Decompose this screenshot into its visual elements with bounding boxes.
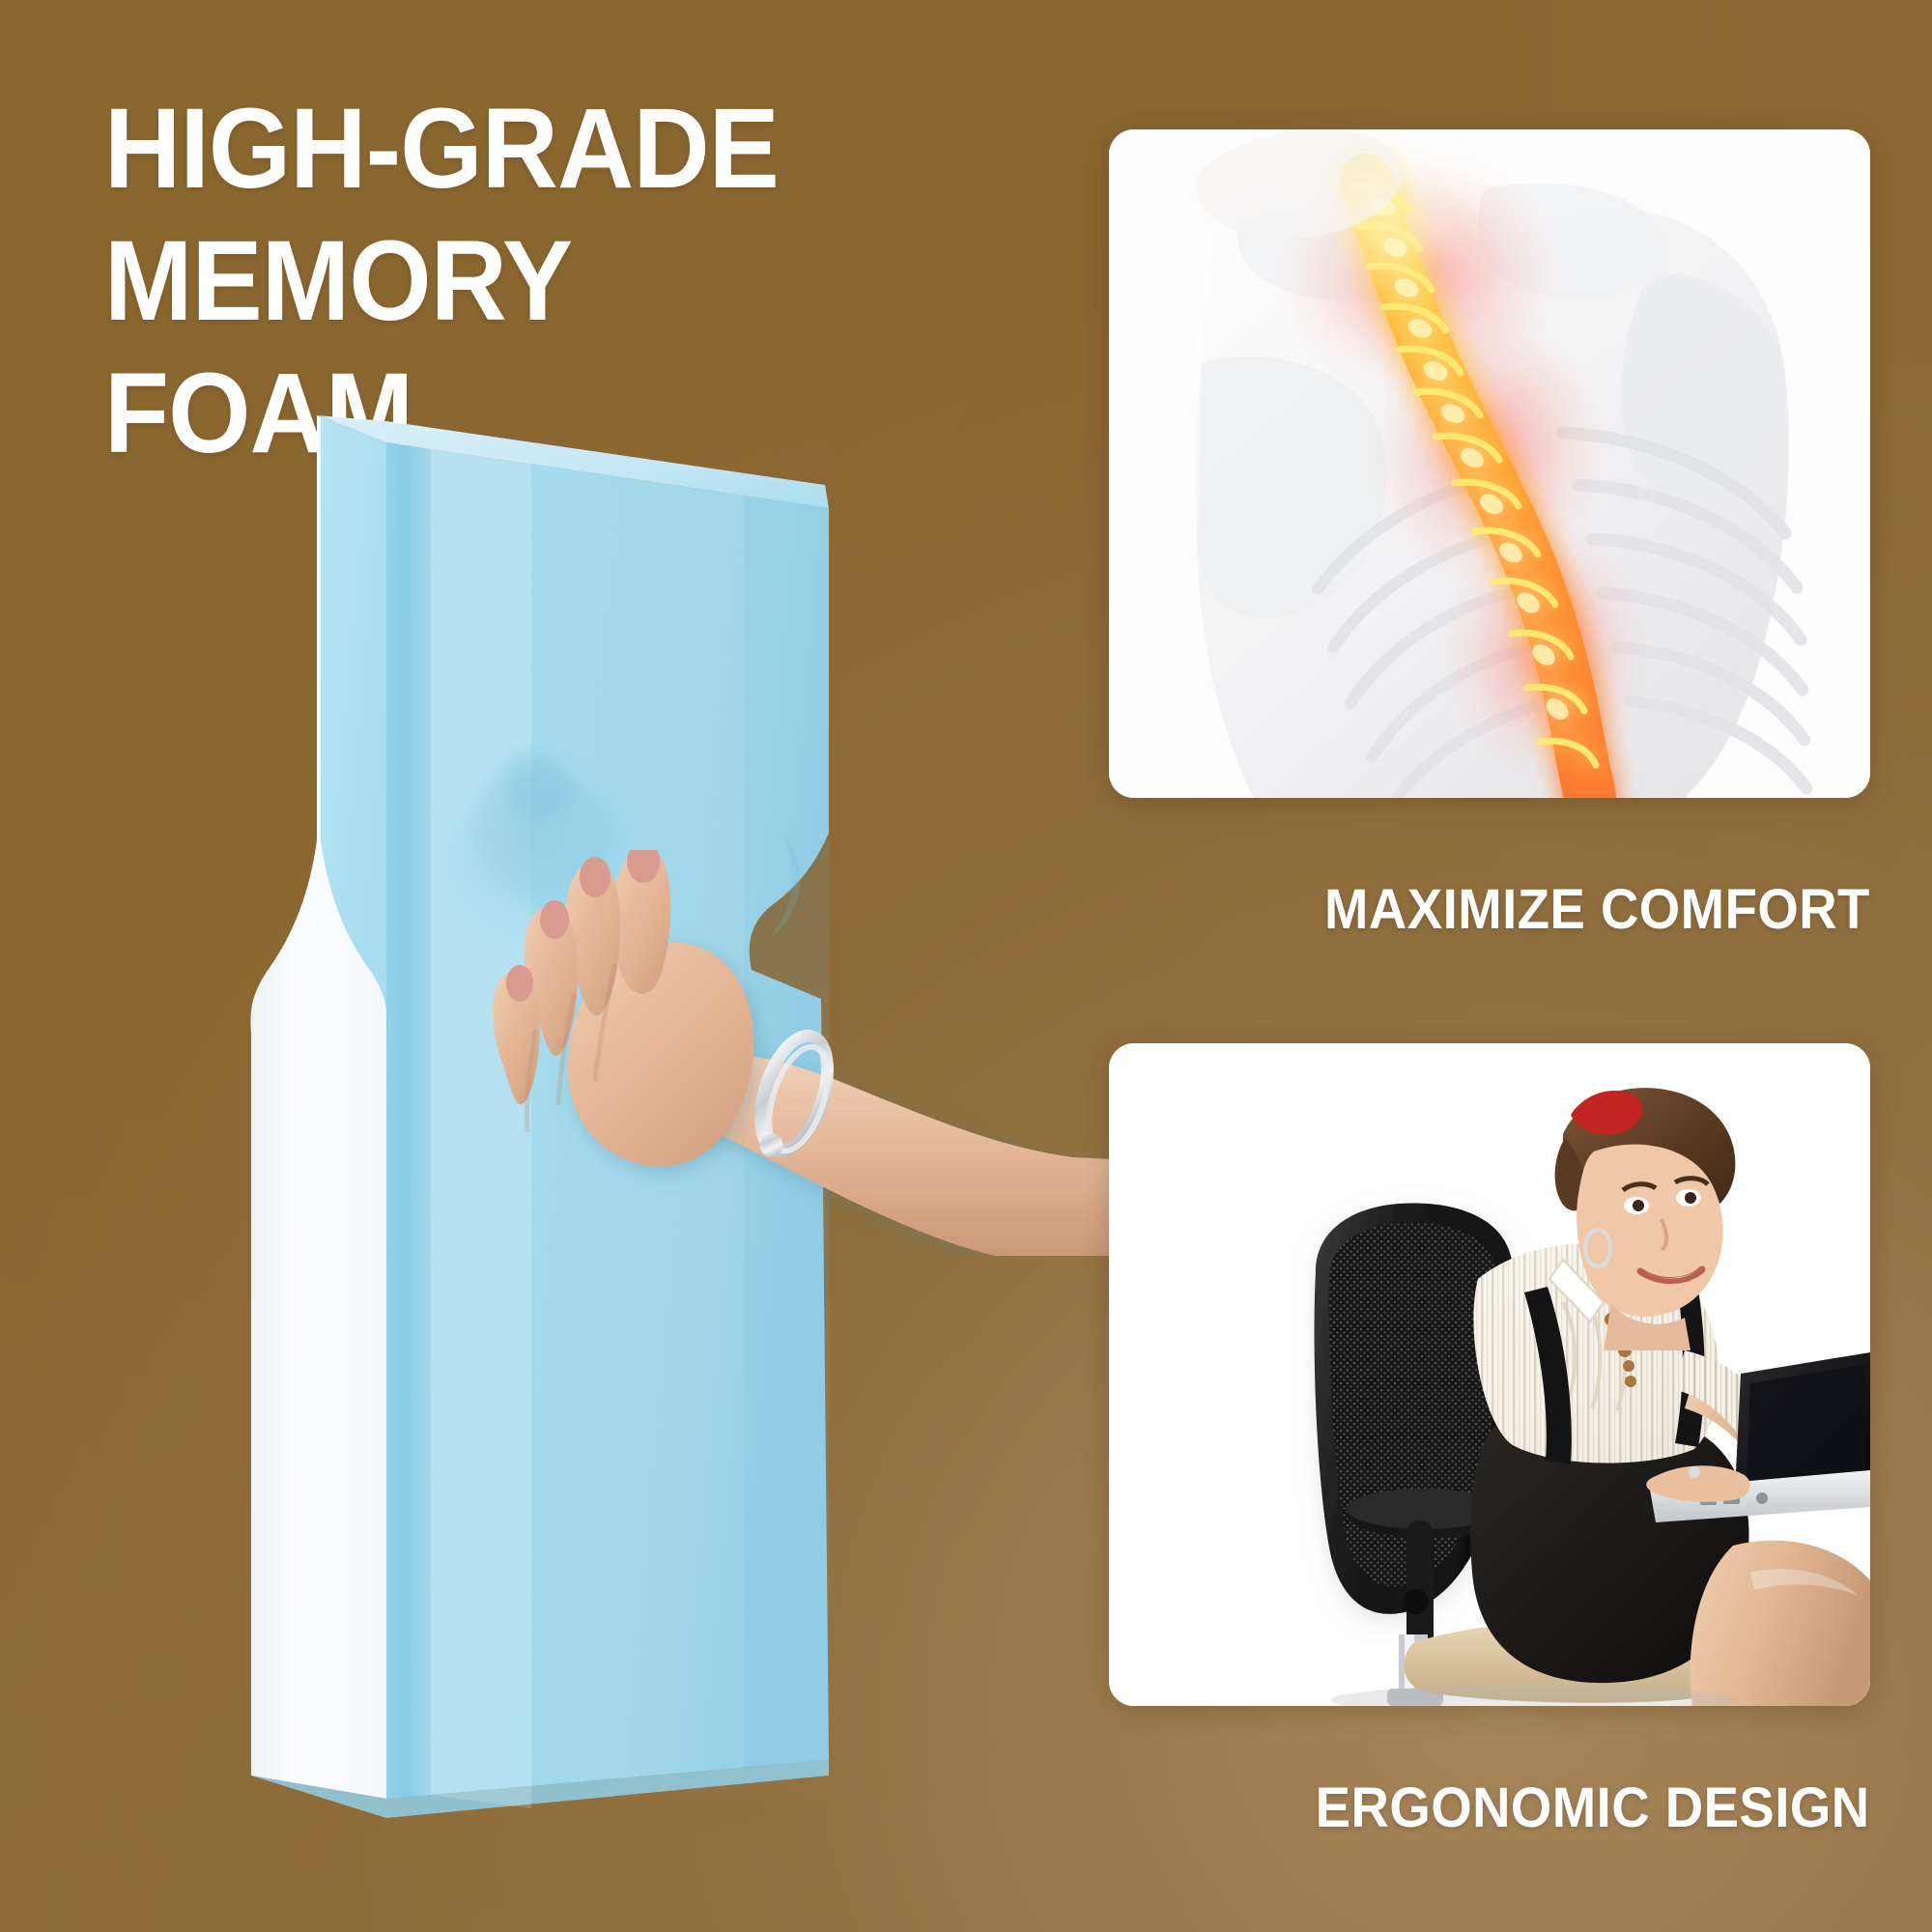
legs [1690, 1541, 1870, 1706]
nail-little [506, 965, 533, 1002]
office-chair-photo [1109, 1043, 1870, 1706]
panel-maximize-comfort [1109, 129, 1870, 798]
caption-maximize-comfort: MAXIMIZE COMFORT [1324, 877, 1870, 942]
ring [1689, 1466, 1700, 1478]
nail-ring [540, 900, 569, 939]
spine-anatomy-image [1109, 129, 1870, 798]
promo-image-root: HIGH-GRADE MEMORY FOAM [0, 0, 1932, 1932]
caption-ergonomic-design: ERGONOMIC DESIGN [1316, 1776, 1870, 1840]
nail-middle [580, 857, 611, 897]
foam-side-edge [386, 442, 431, 1799]
panel-ergonomic-design [1109, 1043, 1870, 1706]
